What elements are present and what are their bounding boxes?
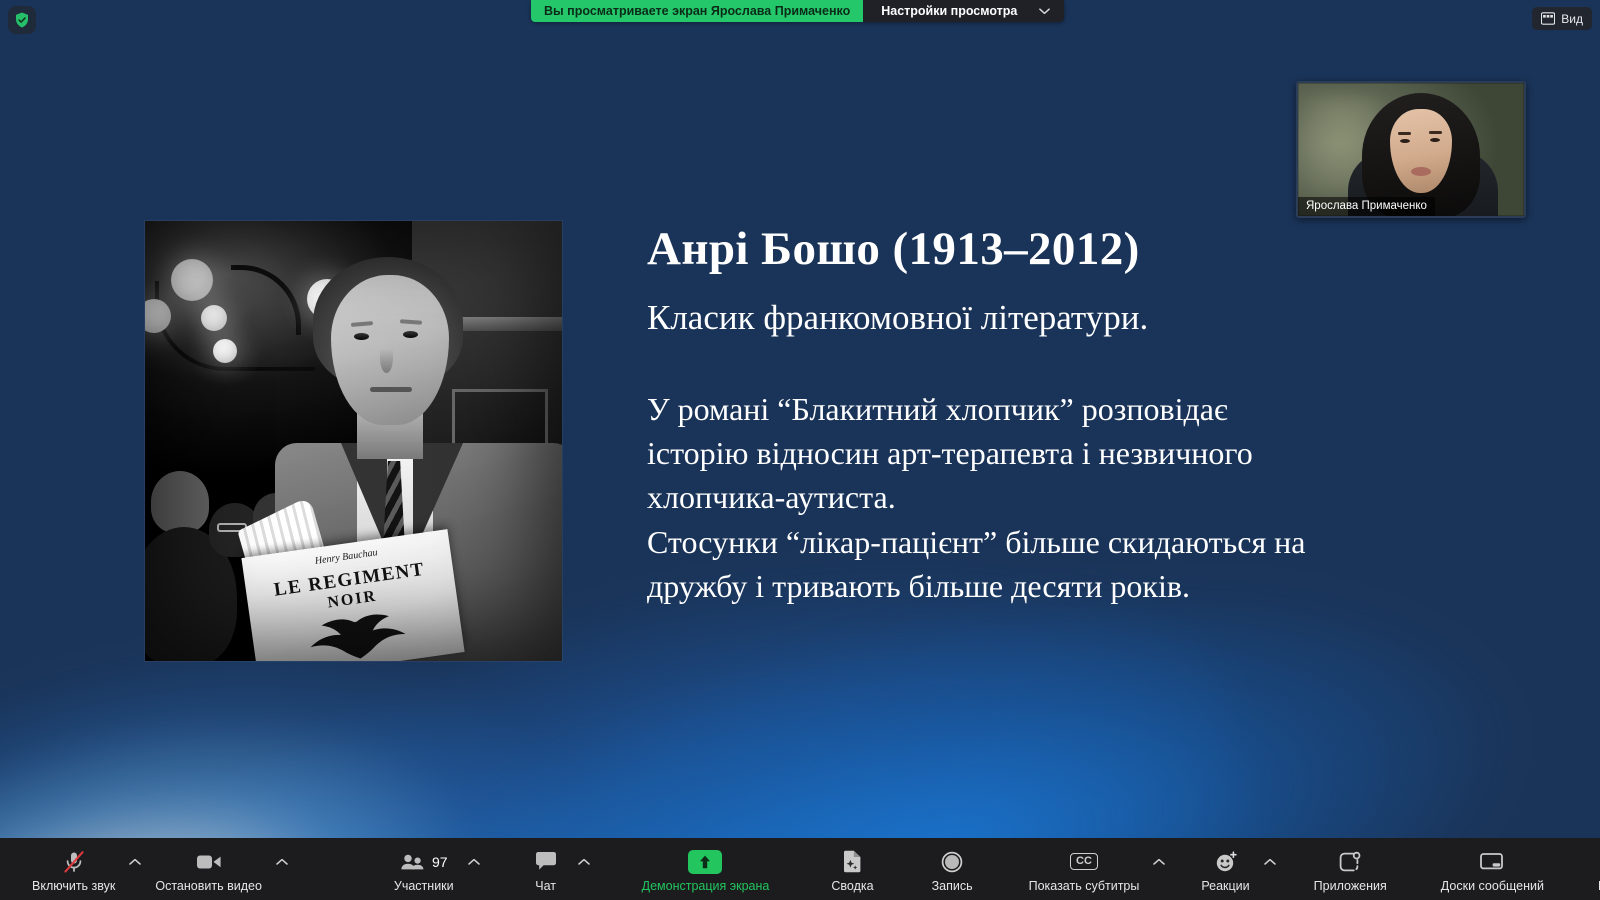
toolbar-item-whiteboards[interactable]: Доски сообщений [1431,846,1554,893]
meeting-toolbar: Включить звук Остановить видео [0,838,1600,900]
toolbar-item-notes[interactable]: Примечания [1588,846,1600,893]
toolbar-item-apps[interactable]: Приложения [1304,846,1397,893]
chevron-up-icon [468,858,480,866]
video-camera-icon [196,852,222,872]
security-shield-button[interactable] [8,6,36,34]
chevron-up-icon [276,858,288,866]
toolbar-label-whiteboards: Доски сообщений [1441,879,1544,893]
slide-text-block: Анрі Бошо (1913–2012) Класик франкомовно… [647,222,1527,608]
toolbar-caret-reactions[interactable] [1260,850,1280,874]
toolbar-label-captions: Показать субтитры [1029,879,1140,893]
self-view-thumbnail[interactable]: Ярослава Примаченко [1296,81,1526,218]
toolbar-item-reactions[interactable]: Реакции [1191,846,1259,893]
closed-captions-icon: CC [1070,853,1098,870]
slide-body: У романі “Блакитний хлопчик” розповідає … [647,387,1527,608]
toolbar-caret-video[interactable] [272,850,292,874]
chevron-up-icon [578,858,590,866]
view-options-button[interactable]: Настройки просмотра [863,0,1064,22]
toolbar-item-record[interactable]: Запись [922,846,983,893]
toolbar-label-record: Запись [932,879,973,893]
reactions-smiley-icon [1214,850,1238,874]
toolbar-label-video: Остановить видео [155,879,262,893]
toolbar-label-participants: Участники [394,879,454,893]
slide-photo: Henry Bauchau LE REGIMENT NOIR [145,221,562,661]
toolbar-item-captions[interactable]: CC Показать субтитры [1019,846,1150,893]
whiteboard-icon [1479,851,1505,873]
slide-paragraph-line: історію відносин арт-терапевта і незвичн… [647,431,1527,475]
view-layout-label: Вид [1561,12,1583,26]
participants-icon [400,852,426,872]
view-options-label: Настройки просмотра [881,4,1017,18]
chevron-up-icon [1264,858,1276,866]
chevron-up-icon [1153,858,1165,866]
apps-icon [1338,851,1362,873]
toolbar-label-mute: Включить звук [32,879,115,893]
toolbar-item-share-screen[interactable]: Демонстрация экрана [632,846,780,893]
participants-count: 97 [432,854,448,870]
toolbar-item-mute[interactable]: Включить звук [22,846,125,893]
slide-paragraph-line: хлопчика-аутиста. [647,475,1527,519]
toolbar-item-chat[interactable]: Чат [518,846,574,893]
record-circle-icon [940,850,964,874]
slide-paragraph-line: Стосунки “лікар-пацієнт” більше скидають… [647,520,1527,564]
toolbar-label-summary: Сводка [831,879,873,893]
view-layout-button[interactable]: Вид [1532,7,1592,30]
slide-subtitle: Класик франкомовної літератури. [647,297,1527,339]
slide-title: Анрі Бошо (1913–2012) [647,222,1527,276]
toolbar-item-participants[interactable]: 97 Участники [384,846,464,893]
toolbar-label-reactions: Реакции [1201,879,1249,893]
share-screen-icon [698,854,712,870]
toolbar-label-share-screen: Демонстрация экрана [642,879,770,893]
toolbar-caret-captions[interactable] [1149,850,1169,874]
grid-view-icon [1541,12,1555,25]
slide-paragraph-line: У романі “Блакитний хлопчик” розповідає [647,387,1527,431]
toolbar-label-chat: Чат [535,879,556,893]
share-screen-active-pill [688,850,722,874]
slide-paragraph-line: дружбу і тривають більше десяти років. [647,564,1527,608]
toolbar-caret-participants[interactable] [464,850,484,874]
chevron-down-icon [1039,7,1050,15]
screen-share-banner: Вы просматриваете экран Ярослава Примаче… [531,0,1064,22]
share-status-text: Вы просматриваете экран Ярослава Примаче… [531,0,863,22]
microphone-muted-icon [62,850,86,874]
self-view-name-label: Ярослава Примаченко [1298,197,1435,216]
toolbar-item-video[interactable]: Остановить видео [145,846,272,893]
chat-bubble-icon [534,851,558,872]
chevron-up-icon [129,858,141,866]
toolbar-label-apps: Приложения [1314,879,1387,893]
shield-check-icon [13,11,31,29]
summary-doc-icon [841,850,863,874]
toolbar-caret-audio[interactable] [125,850,145,874]
toolbar-item-summary[interactable]: Сводка [821,846,883,893]
toolbar-caret-chat[interactable] [574,850,594,874]
